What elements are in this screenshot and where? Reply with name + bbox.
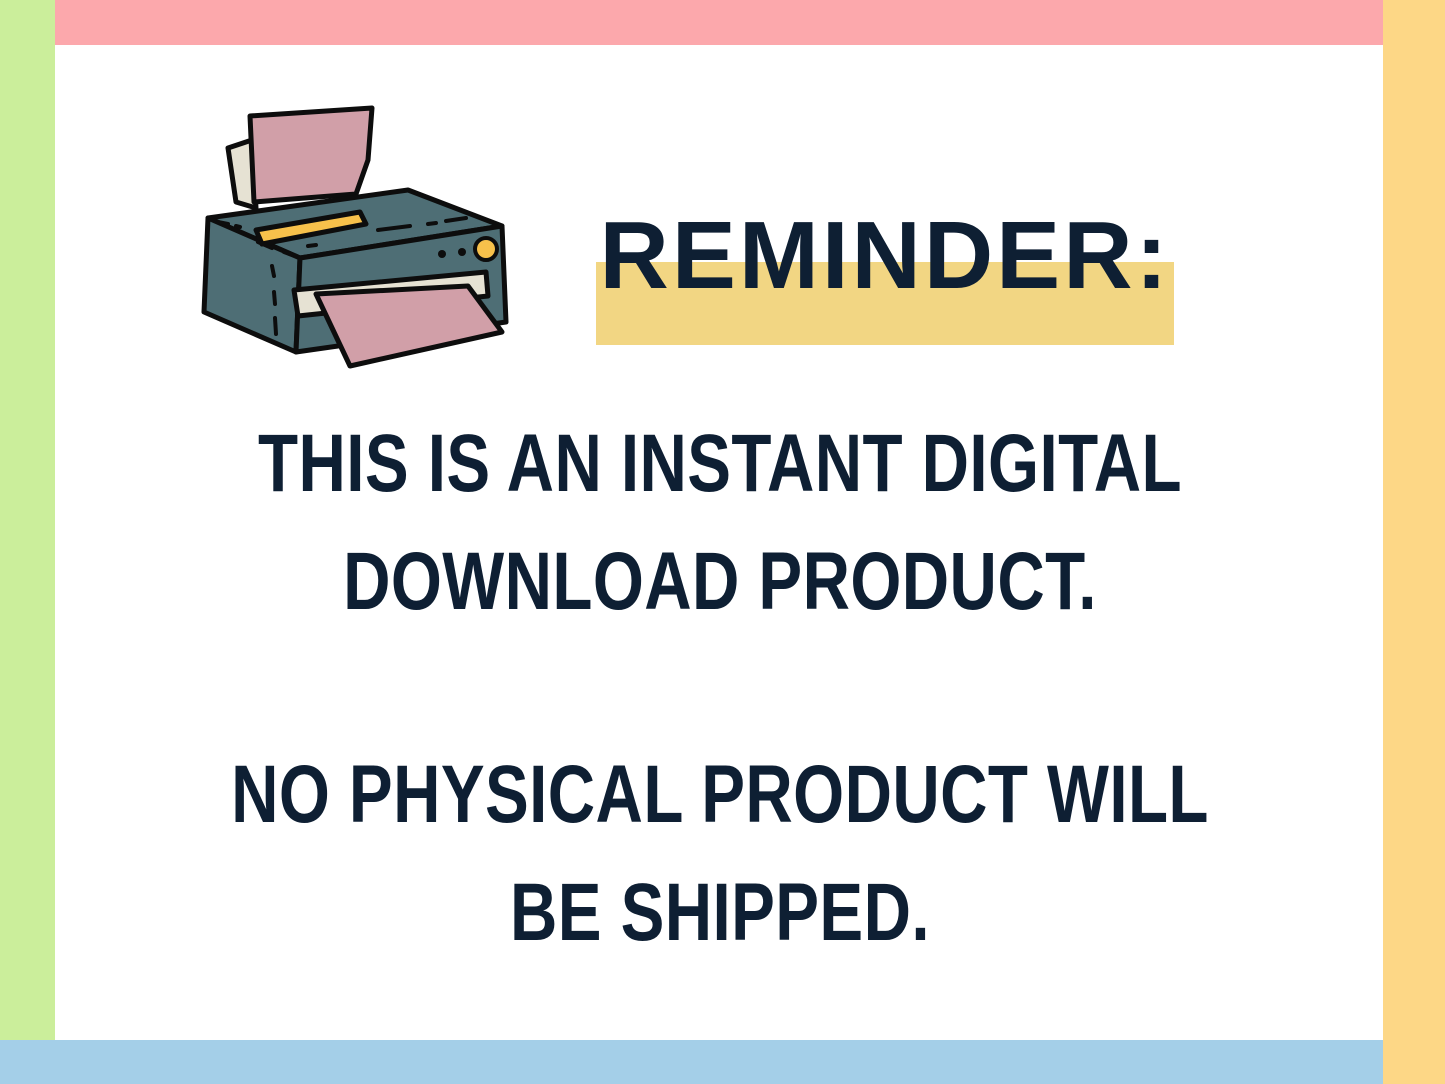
no-shipping-statement: NO PHYSICAL PRODUCT WILL BE SHIPPED. [204, 736, 1236, 972]
top-pink-band [55, 0, 1383, 45]
bottom-blue-band [0, 1040, 1383, 1084]
copy-line: NO PHYSICAL PRODUCT WILL [204, 736, 1236, 854]
headline-group: REMINDER: [596, 200, 1196, 360]
instant-download-statement: THIS IS AN INSTANT DIGITAL DOWNLOAD PROD… [204, 405, 1236, 641]
right-yellow-band [1383, 0, 1445, 1084]
reminder-body-copy: THIS IS AN INSTANT DIGITAL DOWNLOAD PROD… [75, 405, 1365, 972]
copy-line: BE SHIPPED. [204, 854, 1236, 972]
reminder-graphic-canvas: REMINDER: THIS IS AN INSTANT DIGITAL DOW… [0, 0, 1445, 1084]
copy-line: DOWNLOAD PRODUCT. [204, 523, 1236, 641]
page-title: REMINDER: [596, 200, 1174, 312]
copy-line: THIS IS AN INSTANT DIGITAL [204, 405, 1236, 523]
printer-icon [180, 90, 540, 390]
left-green-band [0, 0, 55, 1040]
